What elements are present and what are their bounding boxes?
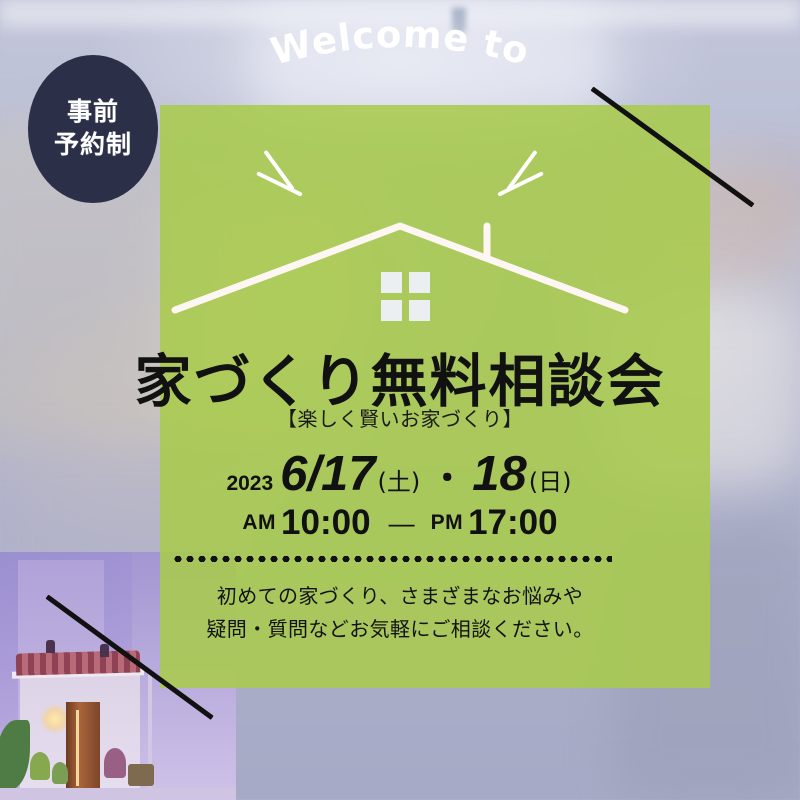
badge-line-1: 事前: [67, 98, 119, 128]
flyer-poster: Welcome to 事前 予約制 家づくり無料相談会 【楽しく賢いお家づくり】…: [0, 0, 800, 800]
house-window-icon: [409, 300, 430, 321]
photo-potted-plant: [52, 762, 68, 784]
photo-door-glass-strip: [76, 710, 79, 786]
description-line-1: 初めての家づくり、さまざまなお悩みや: [0, 580, 800, 613]
photo-wooden-door: [66, 702, 100, 794]
event-time: AM 10:00 — PM 17:00: [0, 503, 800, 543]
time-start-label: AM: [242, 511, 276, 535]
photo-potted-plant: [104, 748, 126, 778]
house-window-icon: [409, 272, 430, 293]
description-line-2: 疑問・質問などお気軽にご相談ください。: [0, 613, 800, 646]
photo-potted-plant: [30, 752, 50, 780]
event-date: 2023 6/17 (土) ・ 18 (日): [0, 446, 800, 502]
date-first: 6/17: [280, 446, 375, 502]
photo-planter-box: [128, 764, 154, 786]
date-second: 18: [472, 446, 527, 502]
event-description: 初めての家づくり、さまざまなお悩みや 疑問・質問などお気軽にご相談ください。: [0, 580, 800, 646]
house-window-icon: [381, 300, 402, 321]
page-subtitle: 【楽しく賢いお家づくり】: [0, 403, 800, 432]
date-first-weekday: (土): [378, 462, 421, 497]
svg-text:Welcome to: Welcome to: [266, 13, 534, 74]
house-window-icon: [381, 272, 402, 293]
welcome-text: Welcome to: [266, 13, 534, 74]
welcome-arched-text: Welcome to: [245, 0, 555, 90]
reservation-badge: 事前 予約制: [28, 55, 158, 203]
date-separator: ・: [430, 451, 464, 500]
time-end-value: 17:00: [468, 503, 558, 543]
badge-line-2: 予約制: [54, 131, 132, 161]
time-start-value: 10:00: [281, 503, 371, 543]
photo-ground: [0, 788, 236, 800]
time-dash: —: [389, 508, 415, 539]
time-end-label: PM: [431, 511, 464, 535]
dotted-divider-icon: [172, 556, 612, 562]
date-second-weekday: (日): [529, 462, 572, 497]
date-year: 2023: [226, 472, 273, 496]
